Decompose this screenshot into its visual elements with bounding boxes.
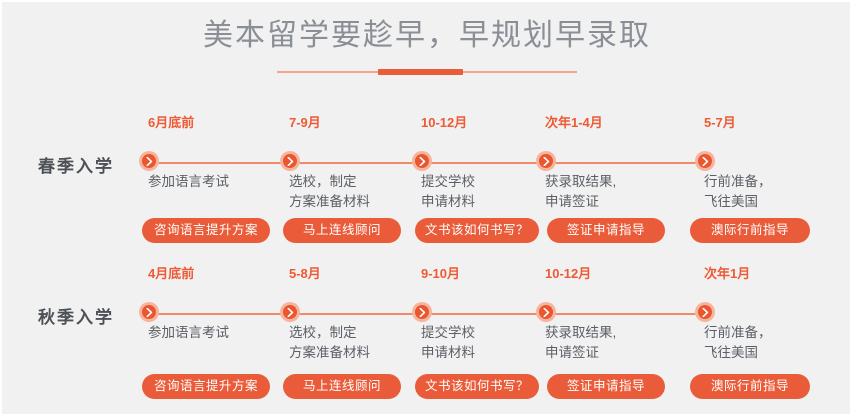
step-description: 选校，制定方案准备材料 bbox=[289, 172, 370, 212]
timeline-marker bbox=[280, 151, 300, 171]
step-description-line: 申请材料 bbox=[421, 343, 475, 363]
step-description: 提交学校申请材料 bbox=[421, 172, 475, 212]
step-description: 参加语言考试 bbox=[148, 172, 229, 192]
page-title: 美本留学要趁早，早规划早录取 bbox=[2, 14, 850, 58]
step-description: 获录取结果,申请签证 bbox=[545, 323, 616, 363]
chevron-right-icon bbox=[415, 154, 429, 168]
cta-button[interactable]: 澳际行前指导 bbox=[690, 374, 810, 399]
step-description: 获录取结果,申请签证 bbox=[545, 172, 616, 212]
step-description-line: 参加语言考试 bbox=[148, 172, 229, 192]
step-period-label: 5-8月 bbox=[289, 265, 321, 283]
step-description: 提交学校申请材料 bbox=[421, 323, 475, 363]
chevron-right-icon bbox=[539, 305, 553, 319]
step-period-label: 次年1月 bbox=[704, 265, 750, 283]
step-period-label: 4月底前 bbox=[148, 265, 194, 283]
step-description: 参加语言考试 bbox=[148, 323, 229, 343]
divider-accent-segment bbox=[378, 69, 463, 75]
step-period-label: 6月底前 bbox=[148, 114, 194, 132]
step-description-line: 提交学校 bbox=[421, 172, 475, 192]
step-description-line: 提交学校 bbox=[421, 323, 475, 343]
step-description-line: 申请材料 bbox=[421, 192, 475, 212]
track-label-spring: 春季入学 bbox=[38, 156, 138, 178]
step-description-line: 获录取结果, bbox=[545, 323, 616, 343]
step-period-label: 次年1-4月 bbox=[545, 114, 603, 132]
timeline-marker bbox=[412, 302, 432, 322]
timeline-marker bbox=[139, 151, 159, 171]
title-divider-rule bbox=[277, 67, 577, 77]
infographic-page: 美本留学要趁早，早规划早录取 春季入学6月底前参加语言考试7-9月选校，制定方案… bbox=[0, 0, 850, 414]
cta-button[interactable]: 咨询语言提升方案 bbox=[142, 374, 270, 399]
step-period-label: 5-7月 bbox=[704, 114, 736, 132]
timeline-marker bbox=[412, 151, 432, 171]
cta-button[interactable]: 马上连线顾问 bbox=[283, 374, 401, 399]
chevron-right-icon bbox=[539, 154, 553, 168]
step-period-label: 7-9月 bbox=[289, 114, 321, 132]
cta-button[interactable]: 文书该如何书写？ bbox=[415, 218, 539, 243]
cta-button[interactable]: 马上连线顾问 bbox=[283, 218, 401, 243]
step-description-line: 方案准备材料 bbox=[289, 343, 370, 363]
timeline-marker bbox=[695, 302, 715, 322]
step-description-line: 获录取结果, bbox=[545, 172, 616, 192]
step-description-line: 选校，制定 bbox=[289, 323, 370, 343]
chevron-right-icon bbox=[283, 305, 297, 319]
chevron-right-icon bbox=[415, 305, 429, 319]
cta-button[interactable]: 咨询语言提升方案 bbox=[142, 218, 270, 243]
step-description: 行前准备，飞往美国 bbox=[704, 323, 772, 363]
timeline-marker bbox=[280, 302, 300, 322]
cta-button[interactable]: 签证申请指导 bbox=[547, 374, 665, 399]
step-description-line: 飞往美国 bbox=[704, 192, 772, 212]
timeline-marker bbox=[536, 151, 556, 171]
cta-button[interactable]: 文书该如何书写？ bbox=[415, 374, 539, 399]
step-description-line: 方案准备材料 bbox=[289, 192, 370, 212]
timeline-marker bbox=[695, 151, 715, 171]
timeline-marker bbox=[139, 302, 159, 322]
step-period-label: 10-12月 bbox=[545, 265, 591, 283]
chevron-right-icon bbox=[698, 305, 712, 319]
step-description-line: 行前准备， bbox=[704, 323, 772, 343]
step-period-label: 9-10月 bbox=[421, 265, 460, 283]
track-label-autumn: 秋季入学 bbox=[38, 307, 138, 329]
chevron-right-icon bbox=[698, 154, 712, 168]
step-description: 行前准备，飞往美国 bbox=[704, 172, 772, 212]
step-description: 选校，制定方案准备材料 bbox=[289, 323, 370, 363]
chevron-right-icon bbox=[142, 154, 156, 168]
step-description-line: 选校，制定 bbox=[289, 172, 370, 192]
step-description-line: 行前准备， bbox=[704, 172, 772, 192]
step-description-line: 申请签证 bbox=[545, 343, 616, 363]
chevron-right-icon bbox=[142, 305, 156, 319]
header: 美本留学要趁早，早规划早录取 bbox=[2, 14, 850, 77]
step-description-line: 飞往美国 bbox=[704, 343, 772, 363]
cta-button[interactable]: 签证申请指导 bbox=[547, 218, 665, 243]
cta-button[interactable]: 澳际行前指导 bbox=[690, 218, 810, 243]
step-period-label: 10-12月 bbox=[421, 114, 467, 132]
chevron-right-icon bbox=[283, 154, 297, 168]
step-description-line: 参加语言考试 bbox=[148, 323, 229, 343]
step-description-line: 申请签证 bbox=[545, 192, 616, 212]
timeline-marker bbox=[536, 302, 556, 322]
